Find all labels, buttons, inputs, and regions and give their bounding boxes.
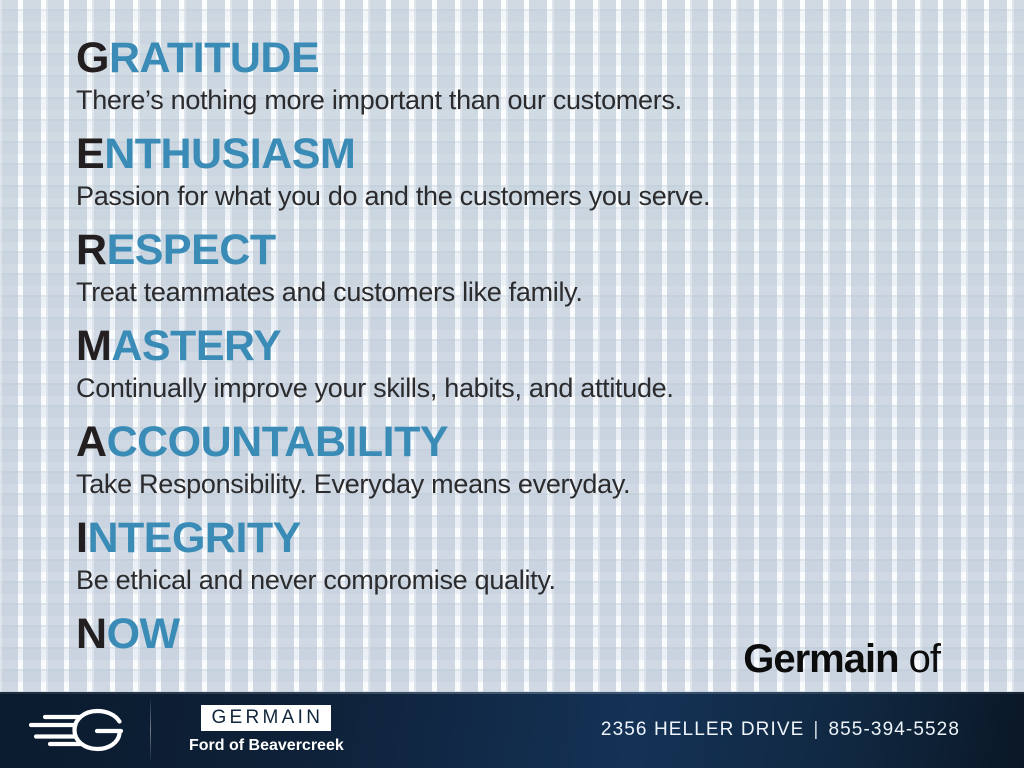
value-initial: N bbox=[76, 610, 107, 658]
value-block-accountability: ACCOUNTABILITY Take Responsibility. Ever… bbox=[76, 418, 984, 501]
value-rest: NTHUSIASM bbox=[104, 130, 355, 178]
value-block-integrity: INTEGRITY Be ethical and never compromis… bbox=[76, 514, 984, 597]
value-initial: I bbox=[76, 514, 87, 562]
value-rest: NTEGRITY bbox=[87, 514, 300, 562]
footer-separator: | bbox=[813, 719, 819, 741]
value-initial: A bbox=[76, 418, 107, 466]
value-word-gratitude: GRATITUDE bbox=[76, 34, 984, 82]
brand-overlay-bold: Germain bbox=[743, 637, 898, 681]
value-description: Be ethical and never compromise quality. bbox=[76, 563, 984, 597]
value-block-respect: RESPECT Treat teammates and customers li… bbox=[76, 226, 984, 309]
footer-contact-info: 2356 HELLER DRIVE | 855-394-5528 bbox=[601, 719, 960, 741]
footer-top-highlight bbox=[0, 692, 1024, 694]
value-word-respect: RESPECT bbox=[76, 226, 984, 274]
value-block-mastery: MASTERY Continually improve your skills,… bbox=[76, 322, 984, 405]
value-word-enthusiasm: ENTHUSIASM bbox=[76, 130, 984, 178]
value-rest: RATITUDE bbox=[109, 34, 319, 82]
value-rest: ASTERY bbox=[111, 322, 281, 370]
value-description: There’s nothing more important than our … bbox=[76, 83, 984, 117]
footer-address: 2356 HELLER DRIVE bbox=[601, 719, 805, 741]
footer-store-name: Ford of Beavercreek bbox=[189, 737, 344, 755]
brand-overlay-headline: Germain of bbox=[743, 636, 940, 682]
footer-divider bbox=[150, 700, 151, 760]
value-description: Continually improve your skills, habits,… bbox=[76, 371, 984, 405]
brand-overlay-light: of bbox=[909, 637, 940, 681]
value-description: Treat teammates and customers like famil… bbox=[76, 275, 984, 309]
value-description: Passion for what you do and the customer… bbox=[76, 179, 984, 213]
footer-bar: GERMAIN Ford of Beavercreek 2356 HELLER … bbox=[0, 692, 1024, 768]
footer-phone[interactable]: 855-394-5528 bbox=[828, 719, 960, 741]
footer-brand-block: GERMAIN Ford of Beavercreek bbox=[189, 705, 344, 755]
values-poster: GRATITUDE There’s nothing more important… bbox=[0, 0, 1024, 768]
value-rest: OW bbox=[107, 610, 180, 658]
value-initial: E bbox=[76, 130, 104, 178]
germain-wordmark: GERMAIN bbox=[201, 705, 331, 731]
value-block-gratitude: GRATITUDE There’s nothing more important… bbox=[76, 34, 984, 117]
dealer-logo[interactable] bbox=[0, 705, 150, 755]
value-block-enthusiasm: ENTHUSIASM Passion for what you do and t… bbox=[76, 130, 984, 213]
value-initial: M bbox=[76, 322, 111, 370]
value-rest: ESPECT bbox=[107, 226, 276, 274]
value-description: Take Responsibility. Everyday means ever… bbox=[76, 467, 984, 501]
value-initial: G bbox=[76, 34, 109, 82]
value-word-accountability: ACCOUNTABILITY bbox=[76, 418, 984, 466]
value-initial: R bbox=[76, 226, 107, 274]
value-word-integrity: INTEGRITY bbox=[76, 514, 984, 562]
value-rest: CCOUNTABILITY bbox=[107, 418, 448, 466]
germain-winged-g-emblem bbox=[23, 705, 127, 755]
core-values-list: GRATITUDE There’s nothing more important… bbox=[76, 34, 984, 671]
value-word-mastery: MASTERY bbox=[76, 322, 984, 370]
